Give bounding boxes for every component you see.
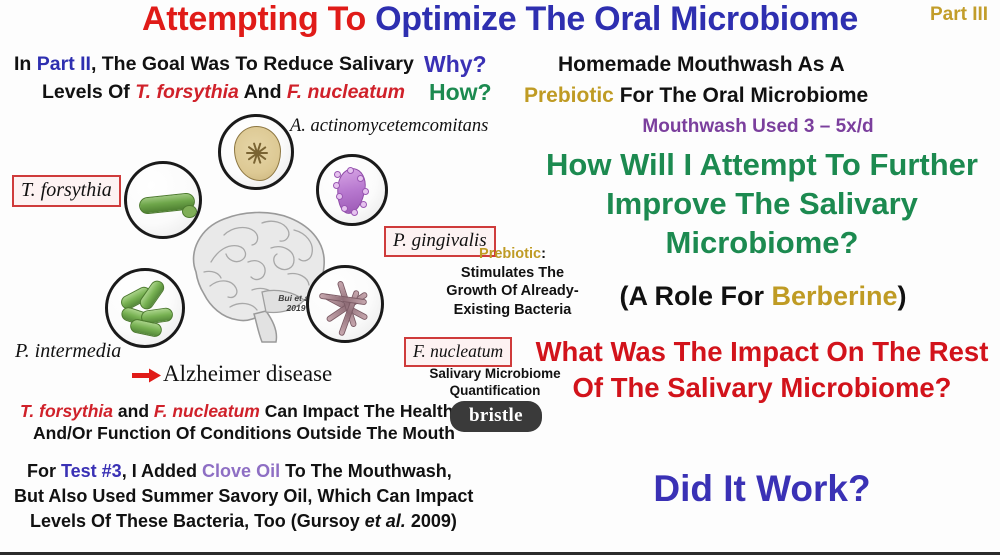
- label-t-forsythia: T. forsythia: [12, 175, 121, 207]
- title-red-part: Attempting To: [142, 0, 375, 38]
- alzheimer-disease-label: Alzheimer disease: [163, 361, 332, 387]
- bottom-left-line3: For Test #3, I Added Clove Oil To The Mo…: [27, 462, 452, 480]
- species-t-forsythia: T. forsythia: [135, 81, 239, 103]
- bottom-left-line5-a: Levels Of These Bacteria, Too (Gursoy: [30, 511, 365, 531]
- subheader-left-line1-c: , The Goal Was To Reduce Salivary: [91, 53, 414, 75]
- bottom-left-line5: Levels Of These Bacteria, Too (Gursoy et…: [30, 512, 457, 530]
- prebiotic-definition-callout: Prebiotic:Stimulates The Growth Of Alrea…: [435, 245, 590, 319]
- species-t-forsythia-2: T. forsythia: [20, 401, 113, 421]
- subheader-part2-link: Part II: [37, 53, 91, 75]
- why-question: Why?: [424, 53, 487, 76]
- homemade-mouthwash-line2-rest: For The Oral Microbiome: [614, 84, 868, 107]
- subheader-left-line1: In Part II, The Goal Was To Reduce Saliv…: [14, 55, 414, 75]
- bottom-left-line4: But Also Used Summer Savory Oil, Which C…: [14, 487, 473, 505]
- subheader-left-line2: Levels Of T. forsythia And F. nucleatum: [42, 83, 405, 103]
- circle-f-nucleatum: [306, 265, 384, 343]
- prebiotic-highlight: Prebiotic: [524, 84, 614, 107]
- did-it-work-heading: Did It Work?: [653, 470, 870, 507]
- bottom-left-line3-e: To The Mouthwash,: [280, 461, 452, 481]
- subheader-left-line2-a: Levels Of: [42, 81, 135, 103]
- bottom-left-line1-d: Can Impact The Health: [260, 401, 454, 421]
- subheader-left-line1-a: In: [14, 53, 37, 75]
- bottom-left-line3-a: For: [27, 461, 61, 481]
- circle-t-forsythia: [124, 161, 202, 239]
- circle-p-intermedia: [105, 268, 185, 348]
- berberine-role-text: (A Role For Berberine): [619, 283, 906, 310]
- label-f-nucleatum: F. nucleatum: [404, 337, 512, 367]
- label-a-actinomycetemcomitans: A. actinomycetemcomitans: [290, 116, 488, 137]
- part-number-label: Part III: [929, 5, 989, 25]
- bristle-logo-badge: bristle: [450, 401, 542, 432]
- subheader-left-line2-c: And: [239, 81, 287, 103]
- homemade-mouthwash-line2: Prebiotic For The Oral Microbiome: [524, 85, 868, 106]
- prebiotic-callout-head: Prebiotic: [479, 246, 541, 262]
- slide-canvas: Attempting To Optimize The Oral Microbio…: [0, 0, 1000, 555]
- berberine-prefix: (A Role For: [619, 281, 771, 311]
- how-question: How?: [429, 81, 492, 104]
- clove-oil-highlight: Clove Oil: [202, 461, 280, 481]
- a-actino-colony-icon: [234, 126, 281, 181]
- t-forsythia-bud-icon: [182, 205, 197, 218]
- right-arrow-icon: [132, 368, 162, 383]
- bottom-left-line1-b: and: [113, 401, 154, 421]
- bottom-left-line1: T. forsythia and F. nucleatum Can Impact…: [20, 403, 453, 421]
- impact-question-heading: What Was The Impact On The Rest Of The S…: [527, 334, 997, 406]
- mouthwash-usage-text: Mouthwash Used 3 – 5x/d: [642, 117, 873, 136]
- berberine-highlight: Berberine: [771, 281, 897, 311]
- species-f-nucleatum: F. nucleatum: [287, 81, 405, 103]
- species-f-nucleatum-2: F. nucleatum: [154, 401, 260, 421]
- circle-a-actinomycetemcomitans: [218, 114, 294, 190]
- prebiotic-callout-colon: :: [541, 246, 546, 262]
- et-al-italic: et al.: [365, 511, 406, 531]
- oral-bacteria-brain-figure: Bui et al. 2019: [0, 108, 545, 398]
- homemade-mouthwash-line1: Homemade Mouthwash As A: [558, 54, 845, 75]
- label-p-intermedia: P. intermedia: [15, 340, 121, 363]
- bottom-left-line2: And/Or Function Of Conditions Outside Th…: [33, 425, 455, 443]
- prebiotic-callout-body: Stimulates The Growth Of Already-Existin…: [446, 265, 578, 318]
- circle-p-gingivalis: [316, 154, 388, 226]
- salivary-quantification-caption: Salivary MicrobiomeQuantification: [410, 366, 580, 400]
- title-blue-part: Optimize The Oral Microbiome: [375, 0, 858, 38]
- bottom-left-line5-c: 2009): [406, 511, 457, 531]
- quantification-line1: Salivary Microbiome: [429, 366, 560, 381]
- quantification-line2: Quantification: [450, 383, 541, 398]
- page-title: Attempting To Optimize The Oral Microbio…: [142, 2, 858, 36]
- berberine-suffix: ): [898, 281, 907, 311]
- improve-microbiome-heading: How Will I Attempt To Further Improve Th…: [527, 145, 997, 262]
- bottom-left-line3-c: , I Added: [122, 461, 202, 481]
- test-number-highlight: Test #3: [61, 461, 122, 481]
